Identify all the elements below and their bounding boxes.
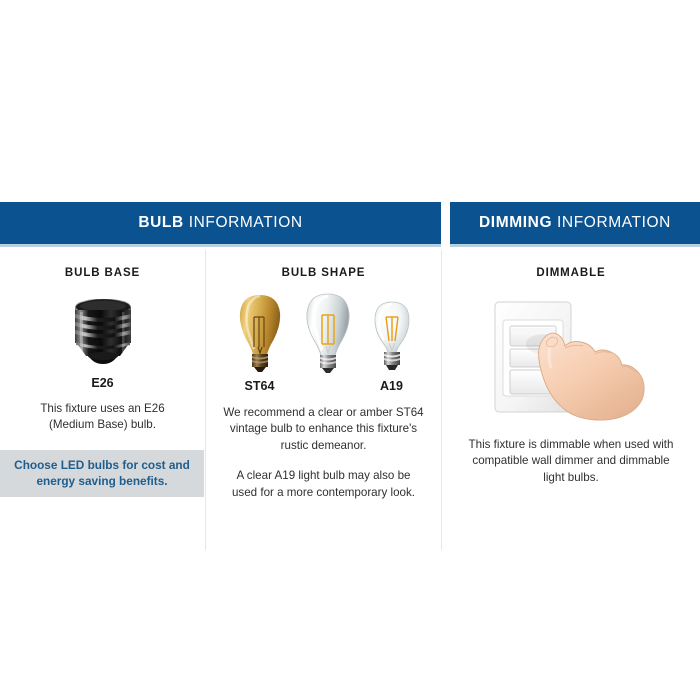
dimming-information-header: DIMMING INFORMATION [450,202,700,247]
bulb-label-a19: A19 [368,379,416,393]
bulb-shape-labels: ST64 A19 [206,379,441,393]
bulb-a19 [368,299,416,375]
led-tip-box: Choose LED bulbs for cost and energy sav… [0,450,204,497]
e26-base-image [0,295,205,367]
dimming-header-strong: DIMMING [479,214,552,231]
column-bulb-shape: BULB SHAPE [205,250,441,550]
e26-label: E26 [0,376,205,390]
bulb-header-strong: BULB [138,214,183,231]
bulb-shape-images [206,289,441,375]
bulb-information-header-text: BULB INFORMATION [138,214,302,232]
bulb-st64-clear [300,291,356,375]
hand-pressing-dimmer-icon [481,292,661,422]
bulb-shape-paragraph-1: We recommend a clear or amber ST64 vinta… [221,405,427,454]
bulb-information-header: BULB INFORMATION [0,202,441,247]
header-bar-row: BULB INFORMATION DIMMING INFORMATION [0,202,700,250]
bulb-base-description: This fixture uses an E26 (Medium Base) b… [18,401,188,434]
bulb-st64-amber [232,291,288,375]
bulb-base-title: BULB BASE [0,267,205,279]
a19-bulb-icon [368,299,416,375]
st64-amber-bulb-icon [232,291,288,375]
dimmer-switch-image [442,289,700,424]
header-gap [441,202,450,250]
dimming-information-header-text: DIMMING INFORMATION [479,214,671,232]
dimmable-title: DIMMABLE [442,267,700,279]
column-dimming: DIMMABLE [441,250,700,550]
dimming-description: This fixture is dimmable when used with … [462,437,680,486]
bulb-shape-title: BULB SHAPE [206,267,441,279]
bulb-dimming-info-panel: BULB INFORMATION DIMMING INFORMATION BUL… [0,0,700,700]
e26-base-icon [67,296,139,366]
bulb-header-light: INFORMATION [184,214,303,231]
info-columns: BULB BASE [0,250,700,550]
column-bulb-base: BULB BASE [0,250,205,550]
st64-clear-bulb-icon [300,291,356,375]
dimming-header-light: INFORMATION [552,214,671,231]
bulb-shape-paragraph-2: A clear A19 light bulb may also be used … [223,468,425,501]
led-tip-text: Choose LED bulbs for cost and energy sav… [12,458,192,490]
bulb-label-st64: ST64 [232,379,288,393]
bulb-label-middle [300,379,356,393]
